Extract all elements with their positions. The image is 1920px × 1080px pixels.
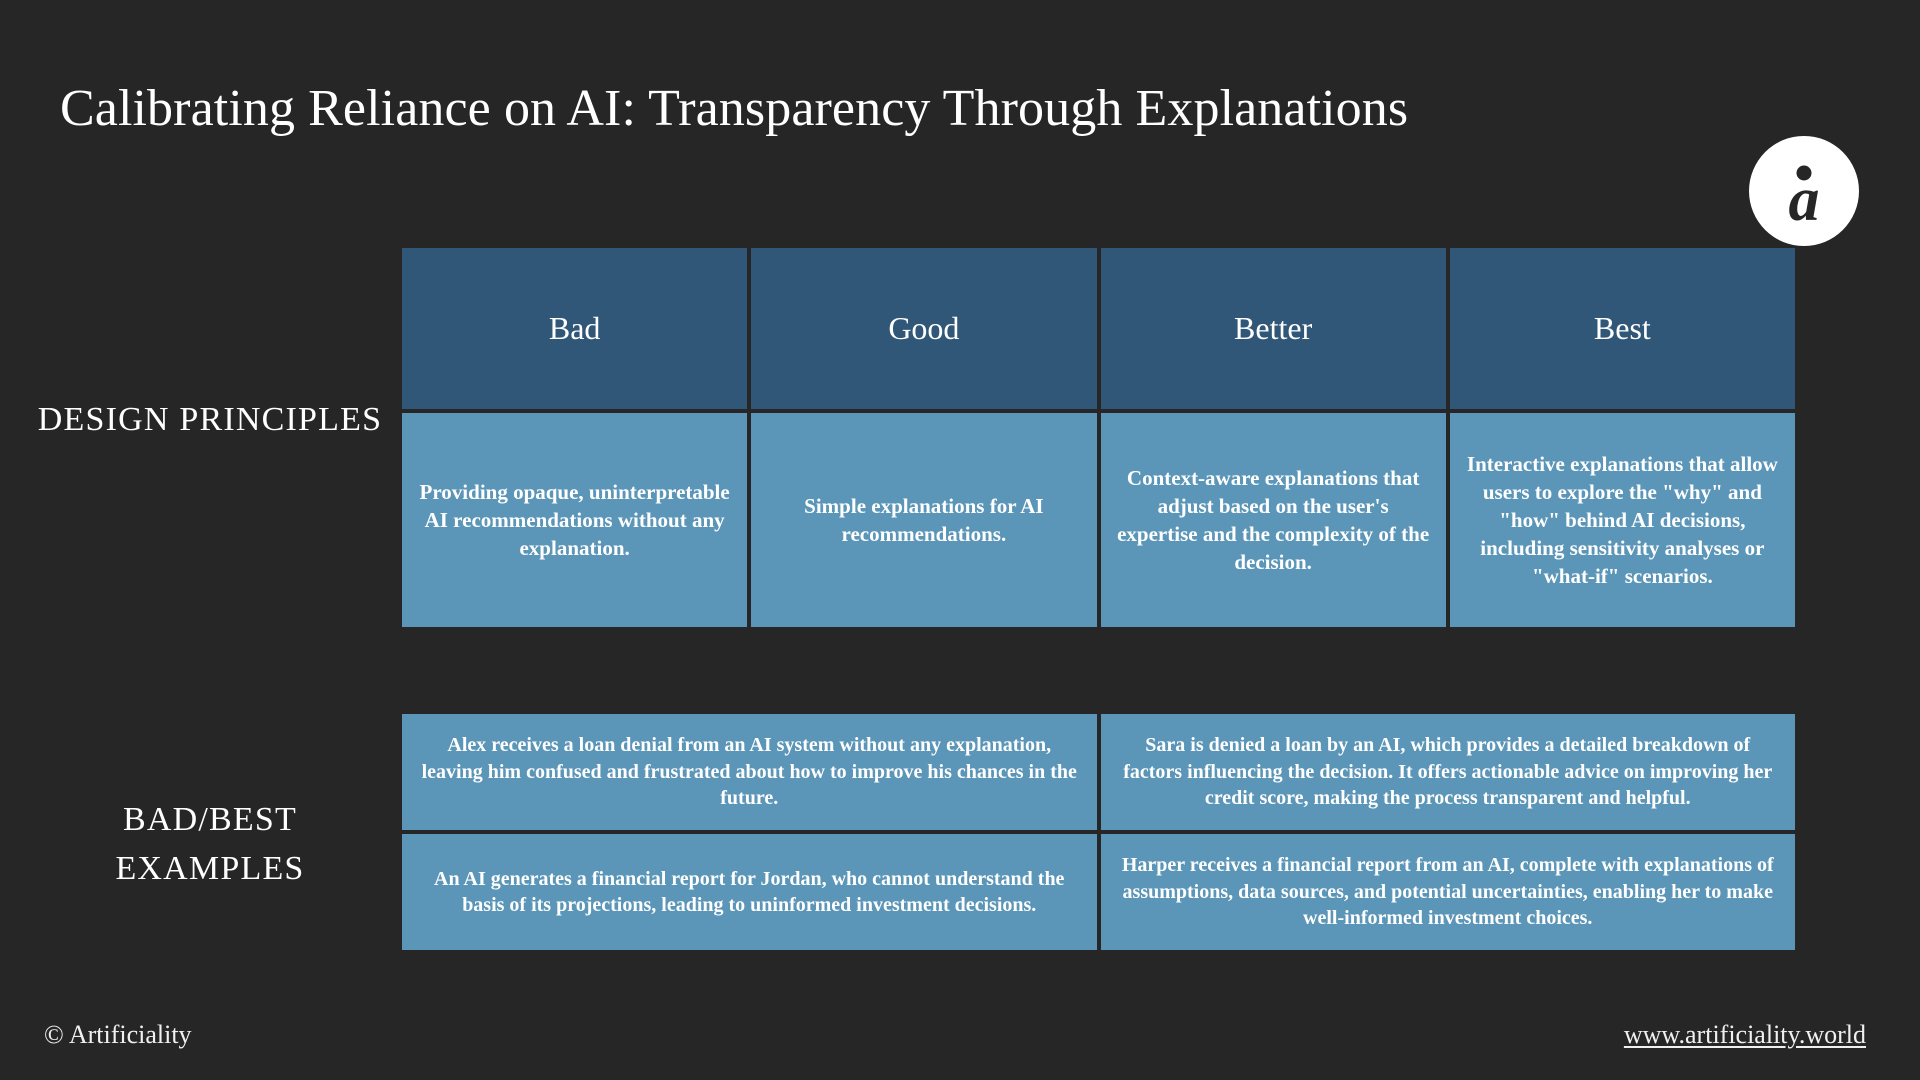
- example-cell-bad-report: An AI generates a financial report for J…: [400, 832, 1099, 952]
- row-label-bad-best-examples: BAD/BEST EXAMPLES: [30, 795, 390, 894]
- footer-copyright: © Artificiality: [44, 1020, 192, 1050]
- artificiality-logo: a: [1749, 136, 1859, 246]
- table-row: Providing opaque, uninterpretable AI rec…: [400, 411, 1797, 629]
- principles-cell-bad: Providing opaque, uninterpretable AI rec…: [400, 411, 749, 629]
- principles-cell-better: Context-aware explanations that adjust b…: [1099, 411, 1448, 629]
- column-header-best: Best: [1448, 246, 1797, 411]
- footer-website-link[interactable]: www.artificiality.world: [1624, 1020, 1866, 1050]
- slide-header: Calibrating Reliance on AI: Transparency…: [0, 78, 1920, 188]
- bad-best-examples-table: Alex receives a loan denial from an AI s…: [400, 712, 1797, 952]
- svg-text:a: a: [1789, 166, 1820, 234]
- example-cell-best-loan: Sara is denied a loan by an AI, which pr…: [1099, 712, 1798, 832]
- row-label-design-principles: DESIGN PRINCIPLES: [30, 395, 390, 444]
- column-header-better: Better: [1099, 246, 1448, 411]
- principles-grid: Bad Good Better Best Providing opaque, u…: [400, 246, 1797, 629]
- page-title: Calibrating Reliance on AI: Transparency…: [60, 82, 1720, 137]
- table-row: An AI generates a financial report for J…: [400, 832, 1797, 952]
- column-header-bad: Bad: [400, 246, 749, 411]
- design-principles-table: Bad Good Better Best Providing opaque, u…: [400, 246, 1797, 629]
- table-row: Alex receives a loan denial from an AI s…: [400, 712, 1797, 832]
- principles-cell-best: Interactive explanations that allow user…: [1448, 411, 1797, 629]
- example-cell-best-report: Harper receives a financial report from …: [1099, 832, 1798, 952]
- principles-cell-good: Simple explanations for AI recommendatio…: [749, 411, 1098, 629]
- examples-grid: Alex receives a loan denial from an AI s…: [400, 712, 1797, 952]
- column-header-good: Good: [749, 246, 1098, 411]
- example-cell-bad-loan: Alex receives a loan denial from an AI s…: [400, 712, 1099, 832]
- table-header-row: Bad Good Better Best: [400, 246, 1797, 411]
- artificiality-a-logo-icon: a: [1761, 148, 1847, 234]
